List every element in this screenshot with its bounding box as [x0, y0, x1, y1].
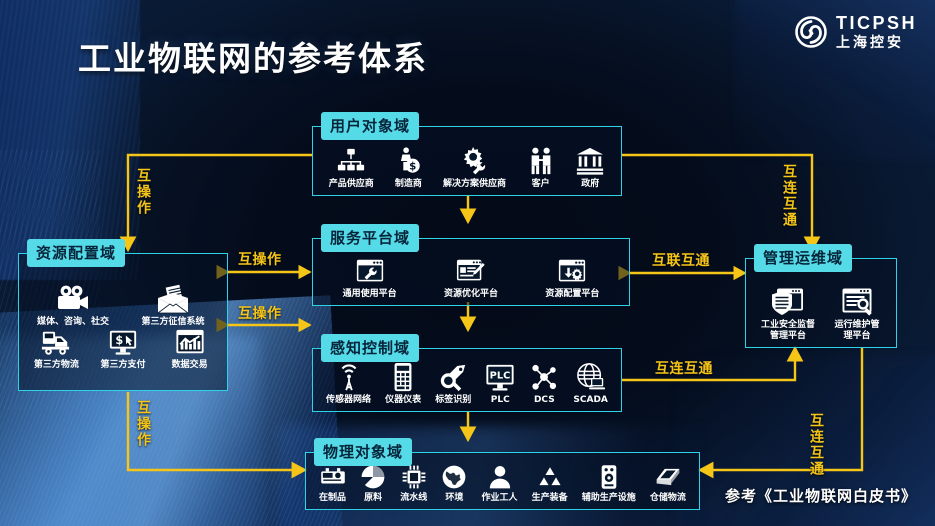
item-label: 产品供应商: [329, 179, 374, 189]
item-label: 工业安全监督管理平台: [759, 320, 817, 341]
item-instrumentation[interactable]: 仪器仪表: [385, 362, 421, 405]
item-production-equipment[interactable]: 生产装备: [532, 464, 568, 503]
domain-items-management: 工业安全监督管理平台 运行维护管理平台: [746, 259, 896, 347]
item-raw-material[interactable]: 原料: [360, 464, 386, 503]
domain-box-physical[interactable]: 物理对象域 在制品 原料: [305, 452, 700, 510]
domain-label-sensing: 感知控制域: [321, 334, 419, 362]
item-resource-optimization-platform[interactable]: 资源优化平台: [444, 256, 498, 299]
domain-box-resource[interactable]: 资源配置域 媒体、咨询、社交 第三方征信系统: [18, 253, 228, 391]
browser-download-gear-icon: [557, 256, 587, 286]
pie-material-icon: [360, 464, 386, 490]
item-tag-identification[interactable]: 标签识别: [435, 362, 471, 405]
gear-wrench-icon: [460, 146, 490, 176]
connector-label-right-top: 互连互通: [779, 164, 799, 228]
item-general-platform[interactable]: 通用使用平台: [343, 256, 397, 299]
item-label: 政府: [581, 179, 599, 189]
tag-scan-icon: [438, 362, 468, 392]
item-label: 仪器仪表: [385, 395, 421, 405]
domain-label-resource: 资源配置域: [27, 239, 125, 267]
svg-text:$: $: [115, 334, 123, 347]
item-sensor-network[interactable]: 传感器网络: [326, 362, 371, 405]
item-scada[interactable]: SCADA: [573, 362, 608, 405]
item-label: 生产装备: [532, 493, 568, 503]
connector-label-right-bottom: 互连互通: [806, 413, 826, 477]
domain-label-physical: 物理对象域: [314, 438, 412, 466]
worker-icon: [487, 464, 513, 490]
org-chart-icon: [336, 146, 366, 176]
item-auxiliary-facility[interactable]: 辅助生产设施: [582, 464, 636, 503]
money-factory-icon: $: [393, 146, 423, 176]
browser-wrench-icon: [355, 256, 385, 286]
item-label: 媒体、咨询、社交: [37, 317, 109, 327]
svg-text:$: $: [410, 160, 417, 172]
item-third-party-logistics[interactable]: 第三方物流: [23, 327, 89, 370]
item-label: DCS: [534, 395, 555, 405]
chip-icon: [401, 464, 427, 490]
antenna-icon: [334, 362, 364, 392]
item-label: SCADA: [573, 395, 608, 405]
item-label: 原料: [364, 493, 382, 503]
item-label: 第三方征信系统: [141, 317, 204, 327]
item-third-party-payment[interactable]: $ 第三方支付: [90, 327, 156, 370]
shield-browser-icon: [771, 287, 805, 317]
domain-box-sensing[interactable]: 感知控制域 传感器网络 仪器仪表: [312, 348, 622, 412]
domain-box-user[interactable]: 用户对象域 产品供应商 $ 制造商: [312, 126, 622, 196]
item-label: 标签识别: [435, 395, 471, 405]
bank-icon: [575, 146, 605, 176]
chart-trend-icon: [175, 327, 205, 357]
node-network-icon: [529, 362, 559, 392]
connector-label-right-lower: 互连互通: [655, 358, 713, 378]
plc-monitor-icon: PLC: [485, 362, 515, 392]
domain-box-service[interactable]: 服务平台域 通用使用平台 资源优化平台: [312, 238, 630, 306]
connector-label-left-bottom: 互操作: [133, 400, 153, 448]
domain-items-resource: 媒体、咨询、社交 第三方征信系统 第三方物流: [19, 254, 227, 390]
item-government[interactable]: 政府: [575, 146, 605, 189]
item-label: 第三方物流: [34, 360, 79, 370]
item-label: 客户: [532, 179, 550, 189]
radiation-equipment-icon: [537, 464, 563, 490]
page-title: 工业物联网的参考体系: [78, 32, 428, 80]
item-plc[interactable]: PLC PLC: [485, 362, 515, 405]
globe-laptop-icon: [576, 362, 606, 392]
item-work-in-progress[interactable]: 在制品: [319, 464, 346, 503]
item-label: 解决方案供应商: [443, 179, 506, 189]
item-environment[interactable]: 环境: [441, 464, 467, 503]
connector-label-left-top: 互操作: [133, 168, 153, 216]
item-worker[interactable]: 作业工人: [482, 464, 518, 503]
item-label: 作业工人: [482, 493, 518, 503]
item-third-party-credit-system[interactable]: 第三方征信系统: [124, 284, 222, 327]
video-camera-icon: [56, 284, 90, 314]
item-label: 通用使用平台: [343, 289, 397, 299]
item-label: 仓储物流: [650, 493, 686, 503]
item-label: 流水线: [400, 493, 427, 503]
domain-label-user: 用户对象域: [321, 112, 419, 140]
item-label: 辅助生产设施: [582, 493, 636, 503]
domain-box-management[interactable]: 管理运维域 工业安全监督管理平台 运行维护管理: [745, 258, 897, 348]
item-dcs[interactable]: DCS: [529, 362, 559, 405]
item-label: 传感器网络: [326, 395, 371, 405]
brand-logo: TICPSH 上海控安: [795, 14, 917, 49]
globe-icon: [441, 464, 467, 490]
connector-label-mid-upper: 互操作: [238, 249, 282, 269]
item-label: 制造商: [395, 179, 422, 189]
item-label: 运行维护管理平台: [831, 320, 883, 341]
envelope-document-icon: [157, 284, 189, 314]
item-label: 资源配置平台: [545, 289, 599, 299]
machine-part-icon: [320, 464, 346, 490]
item-industrial-safety-platform[interactable]: 工业安全监督管理平台: [759, 287, 817, 341]
control-cabinet-icon: [596, 464, 622, 490]
monitor-dollar-icon: $: [108, 327, 138, 357]
item-data-trading[interactable]: 数据交易: [157, 327, 223, 370]
item-solution-supplier[interactable]: 解决方案供应商: [443, 146, 506, 189]
item-label: 第三方支付: [100, 360, 145, 370]
spiral-logo-icon: [795, 16, 827, 48]
logo-text-cn: 上海控安: [836, 35, 917, 49]
item-operation-maintenance-platform[interactable]: 运行维护管理平台: [831, 287, 883, 341]
package-box-icon: [655, 464, 681, 490]
truck-icon: [41, 327, 71, 357]
item-assembly-line[interactable]: 流水线: [400, 464, 427, 503]
item-label: 资源优化平台: [444, 289, 498, 299]
connector-label-right-mid: 互联互通: [652, 250, 710, 270]
item-label: PLC: [491, 395, 510, 405]
svg-text:PLC: PLC: [490, 370, 511, 381]
browser-pencil-icon: [456, 256, 486, 286]
item-label: 在制品: [319, 493, 346, 503]
item-product-supplier[interactable]: 产品供应商: [329, 146, 374, 189]
logo-text-en: TICPSH: [836, 14, 917, 32]
item-media-consulting-social[interactable]: 媒体、咨询、社交: [24, 284, 122, 327]
connector-label-mid-lower: 互操作: [238, 303, 282, 323]
item-warehouse-logistics[interactable]: 仓储物流: [650, 464, 686, 503]
domain-label-management: 管理运维域: [754, 244, 852, 272]
domain-label-service: 服务平台域: [321, 224, 419, 252]
citation-text: 参考《工业物联网白皮书》: [725, 485, 917, 506]
item-customer[interactable]: 客户: [526, 146, 556, 189]
item-label: 数据交易: [172, 360, 208, 370]
document-search-icon: [841, 287, 873, 317]
item-manufacturer[interactable]: $ 制造商: [393, 146, 423, 189]
calculator-icon: [388, 362, 418, 392]
two-people-icon: [526, 146, 556, 176]
item-resource-allocation-platform[interactable]: 资源配置平台: [545, 256, 599, 299]
slide-canvas: 工业物联网的参考体系 TICPSH 上海控安: [0, 0, 935, 526]
item-label: 环境: [445, 493, 463, 503]
